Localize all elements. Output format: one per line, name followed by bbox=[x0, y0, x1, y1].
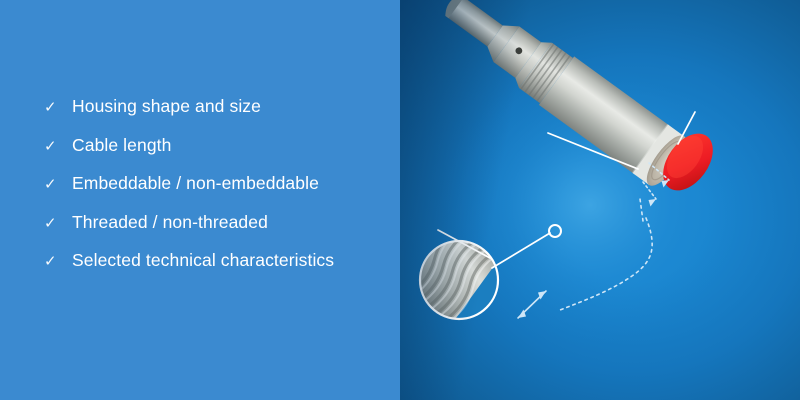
feature-label: Embeddable / non-embeddable bbox=[72, 175, 319, 193]
list-item: ✓ Housing shape and size bbox=[44, 98, 384, 137]
list-item: ✓ Selected technical characteristics bbox=[44, 252, 384, 291]
check-icon: ✓ bbox=[44, 139, 72, 154]
check-icon: ✓ bbox=[44, 254, 72, 269]
check-icon: ✓ bbox=[44, 177, 72, 192]
feature-label: Threaded / non-threaded bbox=[72, 214, 268, 232]
check-icon: ✓ bbox=[44, 100, 72, 115]
feature-label: Cable length bbox=[72, 137, 171, 155]
list-item: ✓ Cable length bbox=[44, 137, 384, 176]
list-item: ✓ Threaded / non-threaded bbox=[44, 214, 384, 253]
check-icon: ✓ bbox=[44, 216, 72, 231]
sensor-diagram bbox=[400, 0, 800, 400]
left-feature-panel: ✓ Housing shape and size ✓ Cable length … bbox=[0, 0, 400, 400]
feature-list: ✓ Housing shape and size ✓ Cable length … bbox=[44, 98, 384, 291]
infographic-slide: ✓ Housing shape and size ✓ Cable length … bbox=[0, 0, 800, 400]
feature-label: Housing shape and size bbox=[72, 98, 261, 116]
list-item: ✓ Embeddable / non-embeddable bbox=[44, 175, 384, 214]
feature-label: Selected technical characteristics bbox=[72, 252, 334, 270]
right-diagram-panel: Add your logo / brand Choose cap color T… bbox=[400, 0, 800, 400]
